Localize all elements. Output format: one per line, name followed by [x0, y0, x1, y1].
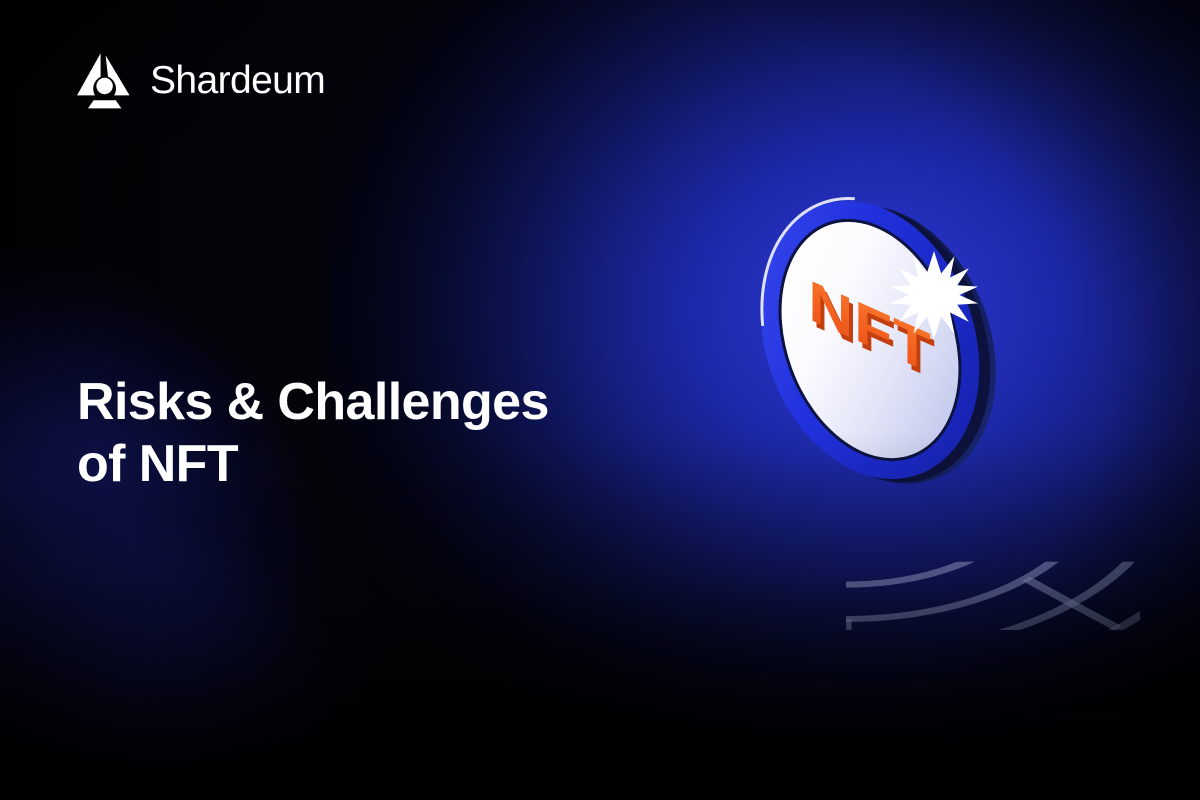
page-title-line-2: of NFT [77, 433, 617, 495]
banner-root: NFT NFT Shardeum Risks & Challenges [0, 0, 1200, 800]
page-title: Risks & Challenges of NFT [77, 371, 617, 495]
shardeum-wordmark: Shardeum [150, 61, 325, 100]
shardeum-triangle-logo-icon [74, 50, 136, 110]
shardeum-logo[interactable]: Shardeum [74, 50, 325, 110]
page-title-line-1: Risks & Challenges [77, 371, 617, 433]
